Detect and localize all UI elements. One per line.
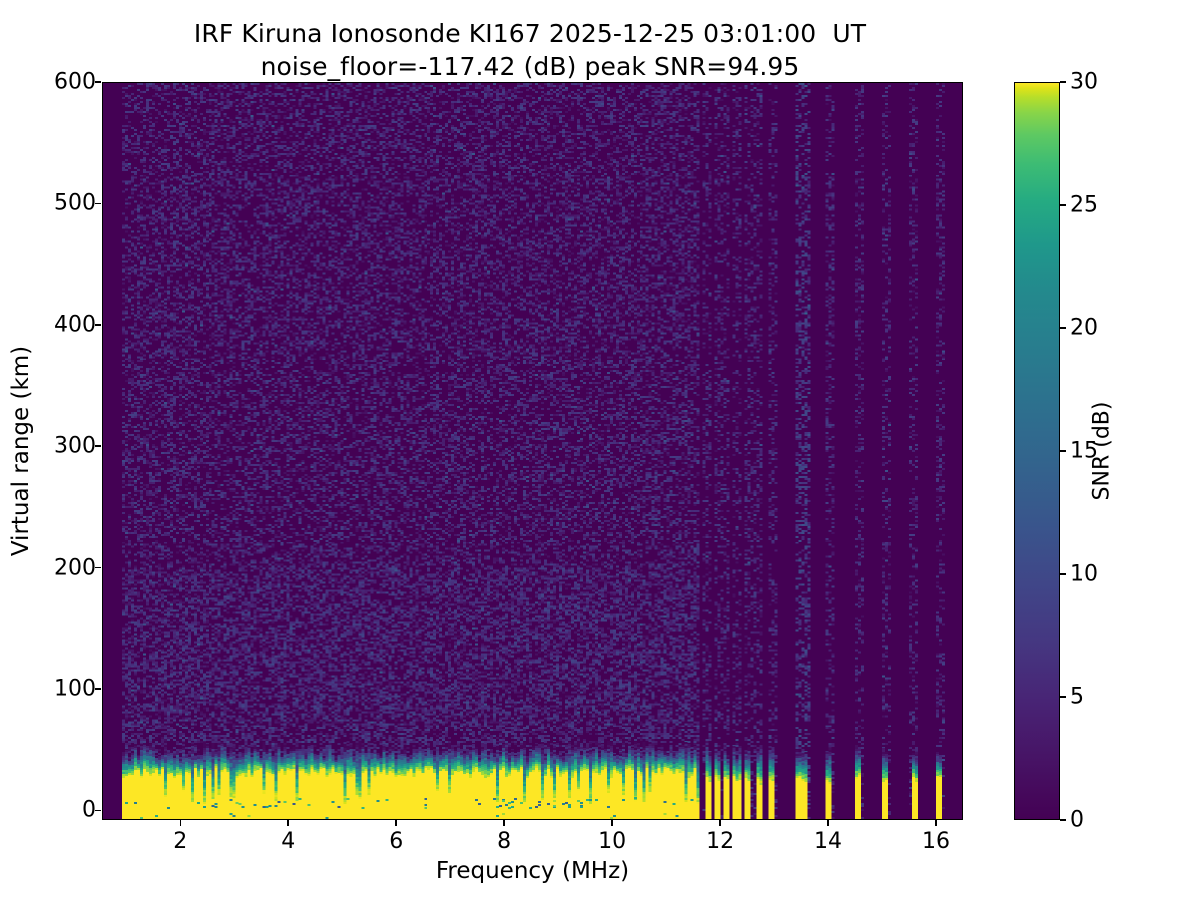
colorbar-tick-mark xyxy=(1060,819,1066,821)
y-tick-label: 300 xyxy=(54,434,96,459)
x-tick-mark xyxy=(395,820,397,826)
x-tick-mark xyxy=(719,820,721,826)
x-tick-label: 2 xyxy=(173,829,187,854)
x-tick-mark xyxy=(180,820,182,826)
colorbar-tick-mark xyxy=(1060,204,1066,206)
ionogram-plot-area xyxy=(102,82,963,820)
y-tick-label: 200 xyxy=(54,555,96,580)
colorbar-tick-mark xyxy=(1060,573,1066,575)
x-tick-label: 14 xyxy=(814,829,842,854)
figure-title: IRF Kiruna Ionosonde KI167 2025-12-25 03… xyxy=(0,18,1060,83)
colorbar-tick-label: 25 xyxy=(1070,193,1098,218)
x-tick-label: 10 xyxy=(598,829,626,854)
colorbar-tick-label: 30 xyxy=(1070,70,1098,95)
colorbar-tick-mark xyxy=(1060,81,1066,83)
x-tick-mark xyxy=(827,820,829,826)
x-tick-mark xyxy=(287,820,289,826)
y-axis-label: Virtual range (km) xyxy=(8,301,34,601)
title-line-1: IRF Kiruna Ionosonde KI167 2025-12-25 03… xyxy=(0,18,1060,51)
y-tick-label: 600 xyxy=(54,70,96,95)
ionogram-heatmap xyxy=(103,83,962,819)
y-tick-label: 100 xyxy=(54,676,96,701)
colorbar-tick-mark xyxy=(1060,450,1066,452)
x-tick-mark xyxy=(935,820,937,826)
ionogram-figure: IRF Kiruna Ionosonde KI167 2025-12-25 03… xyxy=(0,0,1200,900)
x-tick-label: 6 xyxy=(389,829,403,854)
y-tick-label: 400 xyxy=(54,312,96,337)
x-tick-label: 12 xyxy=(706,829,734,854)
y-tick-label: 0 xyxy=(82,798,96,823)
colorbar-tick-mark xyxy=(1060,327,1066,329)
colorbar-tick-mark xyxy=(1060,696,1066,698)
colorbar xyxy=(1014,82,1060,820)
x-axis-label: Frequency (MHz) xyxy=(102,858,963,884)
x-tick-label: 8 xyxy=(497,829,511,854)
x-tick-label: 16 xyxy=(922,829,950,854)
colorbar-label: SNR (dB) xyxy=(1090,331,1115,571)
x-tick-mark xyxy=(611,820,613,826)
colorbar-tick-label: 0 xyxy=(1070,808,1084,833)
title-line-2: noise_floor=-117.42 (dB) peak SNR=94.95 xyxy=(0,51,1060,84)
colorbar-tick-label: 5 xyxy=(1070,685,1084,710)
x-tick-mark xyxy=(503,820,505,826)
x-tick-label: 4 xyxy=(281,829,295,854)
y-tick-label: 500 xyxy=(54,191,96,216)
